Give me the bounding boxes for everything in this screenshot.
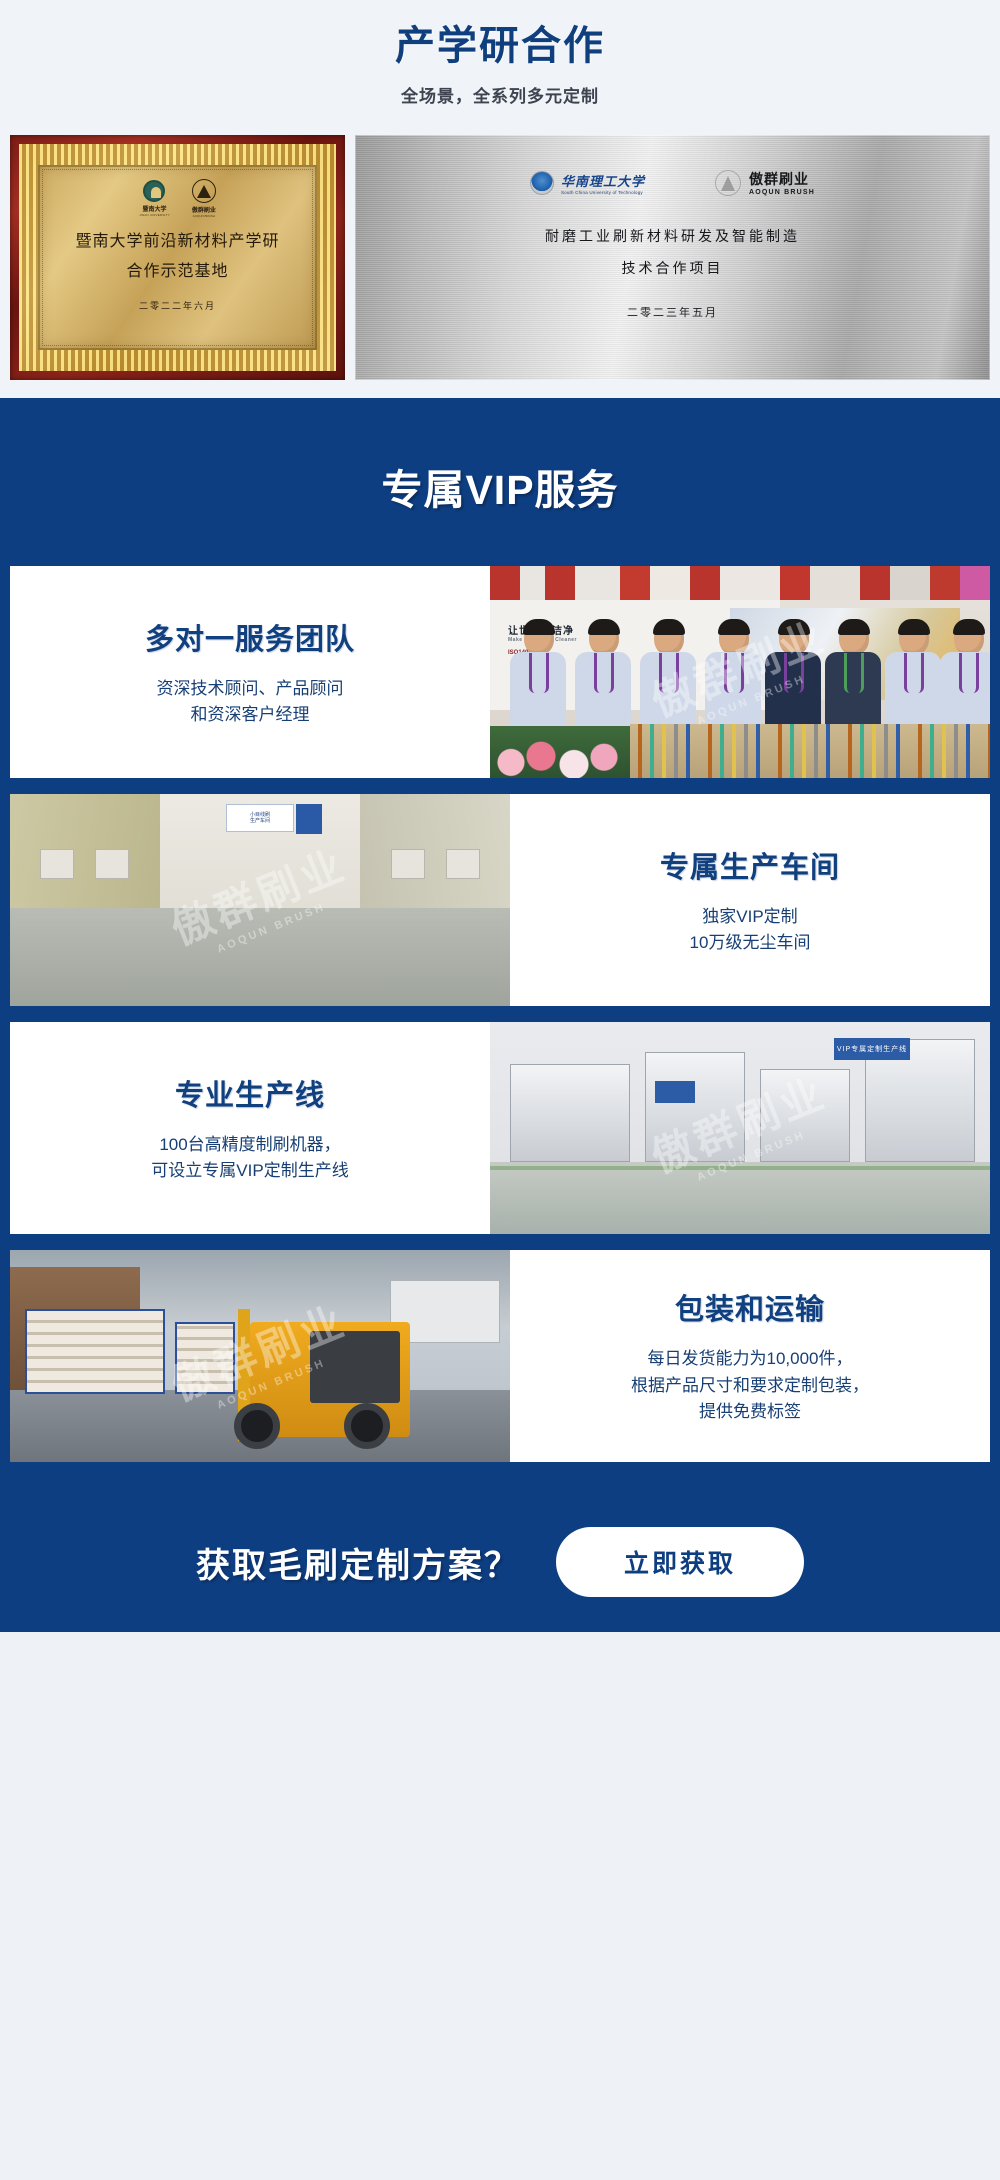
- cleanroom-vent-panel: [446, 849, 480, 879]
- vip-card-text: 多对一服务团队 资深技术顾问、产品顾问 和资深客户经理: [10, 566, 490, 778]
- vip-card-text: 包装和运输 每日发货能力为10,000件， 根据产品尺寸和要求定制包装， 提供免…: [510, 1250, 990, 1462]
- machine-blue-cover: [655, 1081, 695, 1102]
- vip-section-title: 专属VIP服务: [0, 398, 1000, 566]
- plaque-silver-logos: 华南理工大学 South China University of Technol…: [530, 169, 815, 196]
- vip-card-heading: 专业生产线: [175, 1072, 325, 1114]
- vip-card-production-line: 专业生产线 100台高精度制刷机器， 可设立专属VIP定制生产线 VIP专属定制…: [10, 1022, 990, 1234]
- jinan-logo-cn: 暨南大学: [142, 204, 166, 213]
- vip-card-body-line2: 10万级无尘车间: [690, 930, 811, 956]
- vip-card-body: 独家VIP定制 10万级无尘车间: [690, 904, 811, 957]
- aoqun-logo-en: AOQUN BRUSH: [193, 214, 215, 218]
- forklift-cabin: [310, 1331, 400, 1403]
- vip-card-packing-shipping: 包装和运输 每日发货能力为10,000件， 根据产品尺寸和要求定制包装， 提供免…: [10, 1250, 990, 1462]
- plaque-gold-face: 暨南大学 JINAN UNIVERSITY 傲群刷业 AOQUN BRUSH 暨…: [38, 165, 317, 350]
- cleanroom-vent-panel: [95, 849, 129, 879]
- floor-safety-line: [490, 1166, 990, 1170]
- stacked-carton-pallet: [175, 1322, 235, 1394]
- workshop-sign: 小目线刷 生产车间: [226, 804, 294, 832]
- jinan-seal-icon: [143, 180, 165, 202]
- vip-card-body-line1: 100台高精度制刷机器，: [151, 1132, 348, 1158]
- vip-card-body-line1: 资深技术顾问、产品顾问: [157, 676, 344, 702]
- jinan-university-logo-icon: 暨南大学 JINAN UNIVERSITY: [139, 180, 170, 217]
- vip-card-image-cleanroom-photo: 小目线刷 生产车间 傲群刷业 AOQUN BRUSH: [10, 794, 510, 1006]
- vip-card-heading: 专属生产车间: [660, 844, 840, 886]
- vip-card-body: 100台高精度制刷机器， 可设立专属VIP定制生产线: [151, 1132, 348, 1185]
- vip-card-image-forklift-photo: 傲群刷业 AOQUN BRUSH: [10, 1250, 510, 1462]
- brush-product-display: [630, 724, 990, 778]
- cta-question: 获取毛刷定制方案？: [196, 1538, 520, 1587]
- vip-card-body-line2: 根据产品尺寸和要求定制包装，: [631, 1373, 869, 1399]
- corridor-floor: [10, 908, 510, 1006]
- page-title: 产学研合作: [0, 24, 1000, 68]
- vip-card-heading: 包装和运输: [675, 1286, 825, 1328]
- cleanroom-vent-panel: [40, 849, 74, 879]
- brush-machine: [645, 1052, 745, 1162]
- vip-card-heading: 多对一服务团队: [145, 616, 355, 658]
- aoqun-mark-icon: [192, 179, 216, 203]
- header-section: 产学研合作 全场景，全系列多元定制 暨南大学 JINAN UNIVERSITY …: [0, 0, 1000, 398]
- vip-line-sticker: VIP专属定制生产线: [834, 1038, 910, 1060]
- vip-card-body-line2: 可设立专属VIP定制生产线: [151, 1158, 348, 1184]
- brush-machine: [510, 1064, 630, 1162]
- vip-card-body-line2: 和资深客户经理: [157, 702, 344, 728]
- get-quote-button[interactable]: 立即获取: [556, 1527, 804, 1597]
- plaque-silver-date: 二零二三年五月: [627, 304, 718, 320]
- factory-floor: [490, 1162, 990, 1234]
- vip-card-body: 资深技术顾问、产品顾问 和资深客户经理: [157, 676, 344, 729]
- vip-card-body-line1: 独家VIP定制: [690, 904, 811, 930]
- vip-card-body: 每日发货能力为10,000件， 根据产品尺寸和要求定制包装， 提供免费标签: [631, 1346, 869, 1425]
- forklift-wheel: [344, 1403, 390, 1449]
- plaque-gold-logos: 暨南大学 JINAN UNIVERSITY 傲群刷业 AOQUN BRUSH: [139, 179, 216, 218]
- workshop-sign-line2: 生产车间: [250, 818, 270, 825]
- vip-card-body-line3: 提供免费标签: [631, 1399, 869, 1425]
- brush-machine: [760, 1069, 850, 1162]
- certificates-row: 暨南大学 JINAN UNIVERSITY 傲群刷业 AOQUN BRUSH 暨…: [0, 135, 1000, 398]
- aoqun-logo-icon: 傲群刷业 AOQUN BRUSH: [192, 179, 216, 218]
- vip-card-body-line1: 每日发货能力为10,000件，: [631, 1346, 869, 1372]
- jinan-logo-en: JINAN UNIVERSITY: [139, 213, 170, 217]
- plaque-silver-line2: 技术合作项目: [622, 258, 724, 278]
- page-footer-spacer: [0, 1632, 1000, 1644]
- aoqun-silver-en: AOQUN BRUSH: [749, 189, 815, 196]
- aoqun-logo-cn: 傲群刷业: [192, 205, 216, 214]
- scut-logo-icon: 华南理工大学 South China University of Technol…: [530, 171, 645, 195]
- vip-card-image-production-photo: VIP专属定制生产线 傲群刷业 AOQUN BRUSH: [490, 1022, 990, 1234]
- plaque-gold-line2: 合作示范基地: [126, 257, 228, 281]
- scut-crest-icon: [530, 171, 554, 195]
- plaque-silver-line1: 耐磨工业刷新材料研发及智能制造: [545, 226, 800, 246]
- vip-card-dedicated-workshop: 专属生产车间 独家VIP定制 10万级无尘车间 小目线刷 生产车间 傲群刷业 A…: [10, 794, 990, 1006]
- scut-logo-en: South China University of Technology: [561, 190, 645, 195]
- vip-card-service-team: 多对一服务团队 资深技术顾问、产品顾问 和资深客户经理 让世界更洁净 Make …: [10, 566, 990, 778]
- vip-card-image-team-photo: 让世界更洁净 Make The World Cleaner ISO14001 傲…: [490, 566, 990, 778]
- plaque-gold-line1: 暨南大学前沿新材料产学研: [75, 227, 279, 251]
- certificate-silver-plaque: 华南理工大学 South China University of Technol…: [355, 135, 990, 380]
- vip-service-section: 专属VIP服务 多对一服务团队 资深技术顾问、产品顾问 和资深客户经理 让世界更…: [0, 398, 1000, 1492]
- forklift-wheel: [234, 1403, 280, 1449]
- certificate-gold-plaque: 暨南大学 JINAN UNIVERSITY 傲群刷业 AOQUN BRUSH 暨…: [10, 135, 345, 380]
- scut-logo-cn: 华南理工大学: [561, 171, 645, 190]
- aoqun-logo-silver-icon: 傲群刷业 AOQUN BRUSH: [715, 169, 815, 196]
- booth-flower-arrangement: [490, 726, 640, 778]
- stacked-carton-pallet: [25, 1309, 165, 1394]
- aoqun-silver-cn: 傲群刷业: [749, 169, 815, 189]
- page-subtitle: 全场景，全系列多元定制: [0, 82, 1000, 107]
- aoqun-mark-silver-icon: [715, 170, 741, 196]
- booth-ceiling-banner: [490, 566, 990, 600]
- vip-card-text: 专业生产线 100台高精度制刷机器， 可设立专属VIP定制生产线: [10, 1022, 490, 1234]
- workshop-blue-door: [296, 804, 322, 834]
- plaque-gold-date: 二零二二年六月: [139, 299, 216, 312]
- cleanroom-vent-panel: [391, 849, 425, 879]
- cta-section: 获取毛刷定制方案？ 立即获取: [0, 1492, 1000, 1632]
- vip-card-text: 专属生产车间 独家VIP定制 10万级无尘车间: [510, 794, 990, 1006]
